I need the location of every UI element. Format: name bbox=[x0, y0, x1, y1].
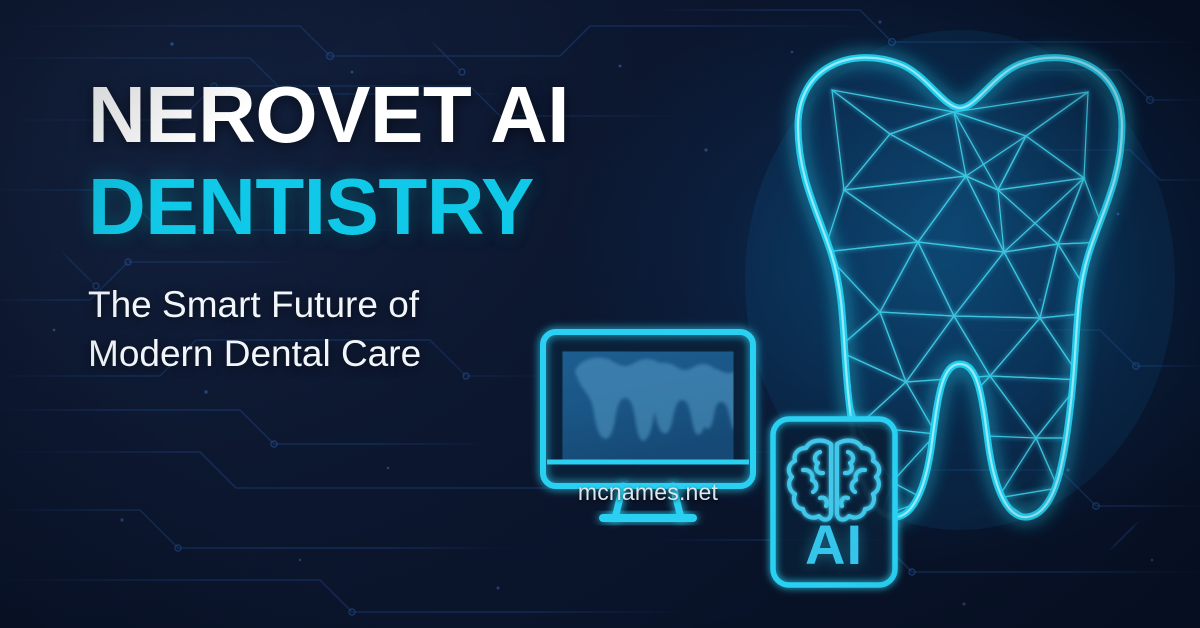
poster-canvas: mcnames.net bbox=[0, 0, 1200, 628]
vignette-overlay bbox=[0, 0, 1200, 628]
